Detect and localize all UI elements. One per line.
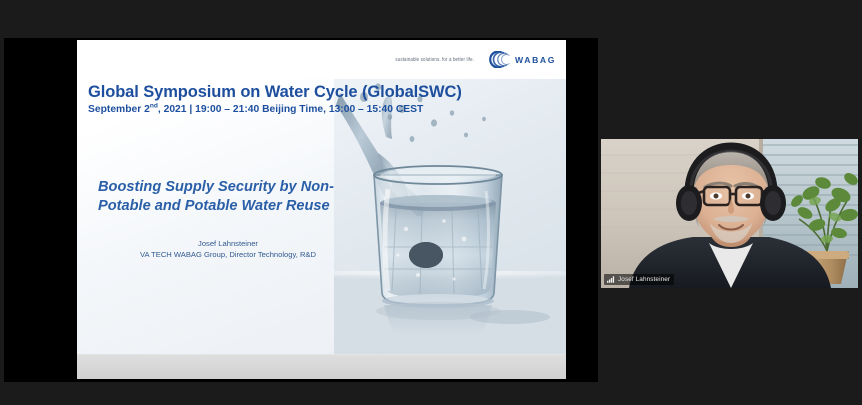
wabag-waves-logo-icon — [479, 51, 510, 68]
brand-tagline: sustainable solutions. for a better life… — [395, 57, 474, 63]
slide-header: sustainable solutions. for a better life… — [77, 40, 566, 79]
participant-name: Josef Lahnsteiner — [618, 276, 670, 283]
slide-footer-band — [77, 354, 566, 379]
presenter-role: VA TECH WABAG Group, Director Technology… — [98, 249, 358, 260]
wabag-logo-lockup: sustainable solutions. for a better life… — [395, 51, 556, 68]
signal-strength-icon — [607, 276, 615, 283]
shared-screen-region[interactable]: sustainable solutions. for a better life… — [4, 38, 598, 382]
slide-subtitle: September 2nd, 2021 | 19:00 – 21:40 Beij… — [88, 104, 528, 115]
participant-video-tile[interactable]: Josef Lahnsteiner — [601, 139, 858, 288]
participant-name-badge: Josef Lahnsteiner — [604, 274, 674, 285]
slide-title-block: Global Symposium on Water Cycle (GlobalS… — [88, 83, 528, 115]
water-glass-splash-photo — [334, 79, 566, 355]
brand-name: WABAG — [515, 55, 556, 65]
page-title: Global Symposium on Water Cycle (GlobalS… — [88, 83, 528, 101]
slide-headline: Boosting Supply Security by Non-Potable … — [98, 178, 358, 216]
webcam-video-feed — [601, 139, 858, 288]
subtitle-ordinal: nd — [150, 103, 158, 110]
meeting-screen: sustainable solutions. for a better life… — [0, 0, 862, 405]
subtitle-suffix: , 2021 | 19:00 – 21:40 Beijing Time, 13:… — [158, 104, 423, 115]
presentation-slide[interactable]: sustainable solutions. for a better life… — [77, 40, 566, 379]
subtitle-prefix: September 2 — [88, 104, 150, 115]
presenter-name: Josef Lahnsteiner — [98, 238, 358, 249]
presenter-block: Josef Lahnsteiner VA TECH WABAG Group, D… — [98, 238, 358, 261]
